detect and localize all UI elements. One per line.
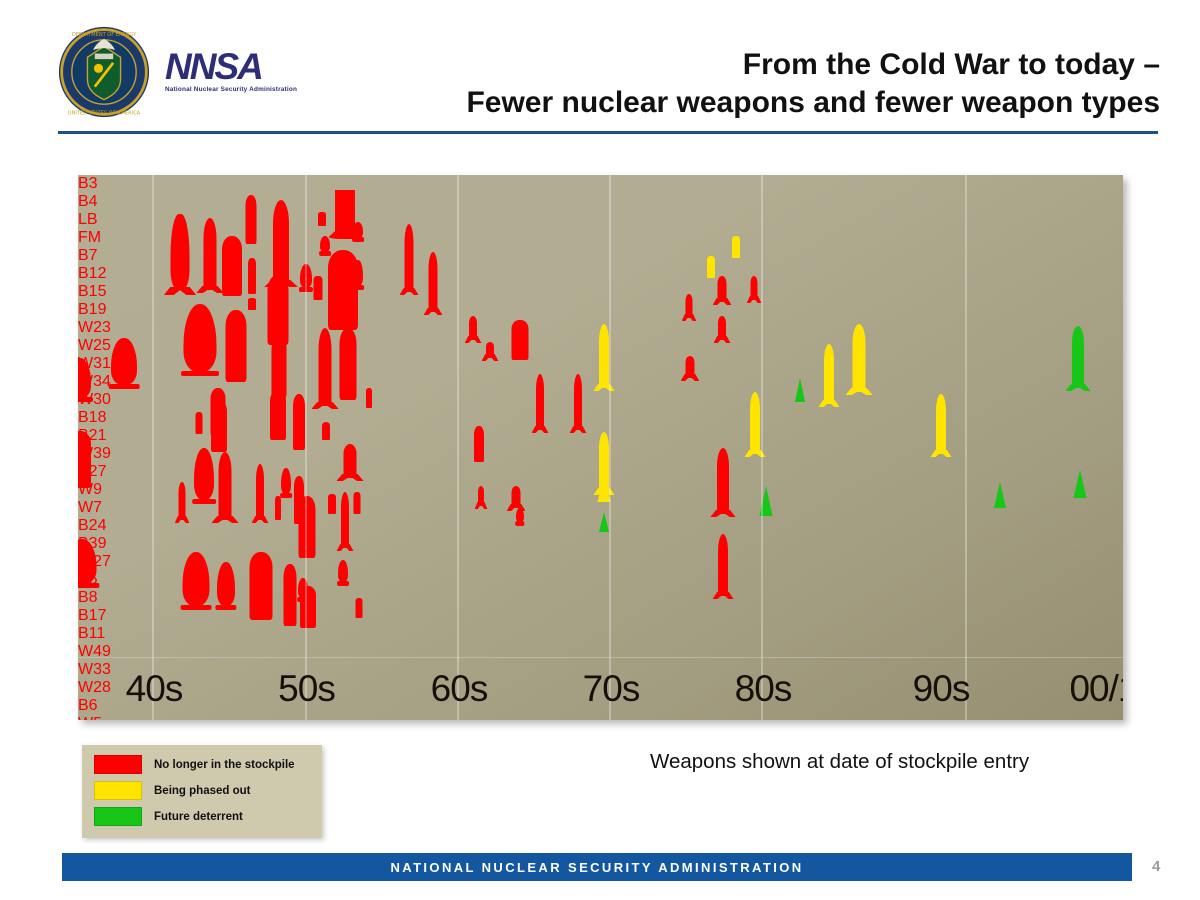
weapon-glyph-B61-2[interactable] — [536, 374, 544, 430]
weapon-shape-cone-icon — [994, 482, 1006, 508]
column-divider-00-10s — [965, 175, 967, 720]
weapon-glyph[interactable] — [1074, 470, 1087, 498]
weapon-glyph-B28Y1[interactable] — [718, 534, 728, 596]
page-number: 4 — [1152, 858, 1160, 875]
slide-header: DEPARTMENT OF ENERGY UNITED STATES OF AM… — [0, 0, 1200, 140]
weapon-glyph-W66[interactable] — [516, 508, 524, 522]
svg-text:UNITED STATES OF AMERICA: UNITED STATES OF AMERICA — [68, 110, 141, 116]
legend-item-future: Future deterrent — [94, 805, 322, 828]
weapon-glyph-W45[interactable] — [328, 494, 336, 514]
weapon-shape-bomb-icon — [194, 448, 214, 500]
weapon-shape-bomb-icon — [281, 468, 291, 494]
weapon-shape-bar-icon — [196, 412, 203, 434]
column-divider-90s — [761, 175, 763, 720]
weapon-shape-cyl-icon — [211, 400, 227, 452]
weapon-shape-finbomb-icon — [171, 214, 190, 290]
weapon-glyph-B36[interactable] — [250, 552, 273, 620]
weapon-shape-cone-icon — [795, 378, 805, 402]
weapon-glyph-W84[interactable] — [718, 276, 727, 302]
weapon-shape-missile-icon — [686, 294, 693, 318]
weapon-shape-bomb-icon — [353, 222, 363, 238]
nnsa-wordmark: NNSA — [165, 48, 310, 85]
weapon-shape-bar-icon — [248, 258, 256, 294]
nnsa-subtitle: National Nuclear Security Administration — [165, 86, 310, 93]
weapon-shape-missile-icon — [344, 444, 357, 478]
weapon-shape-cyl-icon — [78, 431, 91, 488]
legend-swatch-phasing-out — [94, 781, 142, 800]
weapon-glyph-W79-1[interactable] — [751, 276, 758, 300]
weapon-shape-cyl-icon — [299, 496, 316, 558]
legend-label-future: Future deterrent — [154, 811, 243, 823]
weapon-shape-missile-icon — [536, 374, 544, 430]
weapon-shape-missile-icon — [718, 276, 727, 302]
decade-label-80s: 80s — [687, 658, 839, 720]
weapon-glyph-W62[interactable] — [478, 486, 484, 506]
column-divider-50s — [152, 175, 154, 720]
weapon-glyph-W25[interactable] — [248, 298, 256, 310]
weapon-glyph-W48[interactable] — [366, 388, 372, 408]
weapon-glyph-B19[interactable] — [246, 195, 257, 244]
weapon-glyph-B27[interactable] — [272, 334, 287, 398]
legend-swatch-retired — [94, 755, 142, 774]
weapon-glyph-B43[interactable] — [319, 328, 332, 406]
weapon-shape-mush-icon — [335, 190, 355, 232]
weapon-shape-bomb-icon — [78, 358, 91, 398]
weapon-glyph-B57[interactable] — [341, 492, 349, 548]
weapon-shape-cyl-icon — [222, 236, 242, 296]
weapon-glyph-W47[interactable] — [314, 276, 323, 300]
decade-label-40s: 40s — [78, 658, 230, 720]
weapon-shape-cyl-icon — [512, 320, 529, 360]
weapon-glyph-B61-10[interactable] — [824, 344, 834, 404]
weapon-glyph-W72[interactable] — [474, 426, 484, 462]
title-divider — [58, 131, 1158, 134]
weapon-glyph-B3[interactable] — [78, 358, 91, 398]
weapon-shape-missile-icon — [751, 276, 758, 300]
weapon-glyph-B61-1[interactable] — [429, 252, 438, 312]
weapon-shape-cyl-icon — [284, 564, 297, 626]
weapon-shape-cyl-icon — [270, 390, 286, 440]
weapon-glyph-W58[interactable] — [354, 492, 361, 514]
weapon-glyph-W49[interactable] — [281, 468, 291, 494]
weapon-glyph-B15[interactable] — [222, 236, 242, 296]
decade-axis: 40s50s60s70s80s90s00/10s — [78, 658, 1123, 720]
title-line-1: From the Cold War to today – — [300, 46, 1160, 84]
weapon-shape-cyl-icon — [272, 334, 287, 398]
weapon-shape-bar-icon — [314, 276, 323, 300]
weapon-shape-cyl-icon — [328, 250, 358, 330]
weapon-glyph-W69[interactable] — [486, 342, 494, 358]
weapon-glyph-LB[interactable] — [78, 431, 91, 488]
weapon-shape-missile-icon — [718, 316, 726, 340]
weapon-glyph-B61-7[interactable] — [750, 392, 760, 454]
svg-text:DEPARTMENT OF ENERGY: DEPARTMENT OF ENERGY — [72, 32, 137, 38]
weapon-glyph-B18[interactable] — [184, 304, 217, 372]
weapon-glyph-W9[interactable] — [196, 412, 203, 434]
weapon-shape-bar-icon — [248, 298, 256, 310]
weapon-shape-cyl-icon — [474, 426, 484, 462]
weapon-shape-cyl-icon — [340, 328, 357, 400]
weapon-glyph-B53[interactable] — [328, 250, 358, 330]
weapon-glyph-W56[interactable] — [344, 444, 357, 478]
weapon-glyph-W70-12[interactable] — [512, 486, 521, 508]
weapon-shape-cyl-icon — [300, 586, 316, 628]
weapon-shape-missile-icon — [512, 486, 521, 508]
weapon-shape-bar-icon — [732, 236, 740, 258]
stockpile-timeline-chart: B3B4LBFMB7B12B15B19W23W25W31W34W30B18B21… — [78, 175, 1123, 720]
weapon-glyph-W54[interactable] — [318, 212, 326, 226]
weapon-shape-missile-icon — [204, 218, 217, 290]
weapon-glyph-B83-1[interactable] — [853, 324, 866, 392]
weapon-shape-missile-icon — [853, 324, 866, 392]
weapon-shape-cyl-icon — [226, 310, 247, 382]
weapon-shape-bar-icon — [356, 598, 363, 618]
weapon-glyph-W68[interactable] — [469, 316, 477, 340]
weapon-glyph-W55[interactable] — [356, 598, 363, 618]
legend-item-phasing-out: Being phased out — [94, 779, 322, 802]
weapon-shape-missile-icon — [319, 328, 332, 406]
chart-caption: Weapons shown at date of stockpile entry — [650, 750, 1130, 774]
weapon-glyph-W38[interactable] — [300, 586, 316, 628]
weapon-shape-missile-icon — [686, 356, 695, 378]
legend-item-retired: No longer in the stockpile — [94, 753, 322, 776]
weapon-glyph-B12[interactable] — [204, 218, 217, 290]
weapon-shape-bomb-icon — [217, 562, 235, 606]
weapon-glyph[interactable] — [994, 482, 1006, 508]
weapon-glyph-W33[interactable] — [275, 496, 281, 520]
weapon-glyph-B61-0[interactable] — [405, 224, 414, 292]
weapon-glyph-B6[interactable] — [183, 552, 210, 606]
weapon-glyph-W79-0[interactable] — [686, 294, 693, 318]
weapon-glyph-W85[interactable] — [718, 316, 726, 340]
weapon-shape-missile-icon — [256, 464, 264, 520]
weapon-glyph-W70-3[interactable] — [686, 356, 695, 378]
weapon-shape-missile-icon — [750, 392, 760, 454]
weapon-shape-missile-icon — [469, 316, 477, 340]
weapon-shape-bar-icon — [318, 212, 326, 226]
weapon-glyph-B83-0[interactable] — [717, 448, 729, 514]
footer-title: NATIONAL NUCLEAR SECURITY ADMINISTRATION — [62, 853, 1132, 881]
weapon-shape-cyl-icon — [250, 552, 273, 620]
weapon-glyph-W52[interactable] — [338, 560, 348, 582]
weapon-glyph-B4[interactable] — [111, 338, 137, 385]
weapon-shape-missile-icon — [599, 324, 609, 388]
weapon-glyph[interactable] — [795, 378, 805, 402]
weapon-glyph-W80-0[interactable] — [732, 236, 740, 258]
weapon-glyph-B5[interactable] — [194, 448, 214, 500]
weapon-shape-missile-icon — [717, 448, 729, 514]
weapon-shape-missile-icon — [1072, 326, 1084, 388]
weapon-shape-bomb-icon — [516, 508, 524, 522]
weapon-glyph-W23[interactable] — [248, 258, 256, 294]
weapon-shape-missile-icon — [574, 374, 582, 430]
weapon-glyph[interactable] — [1072, 326, 1084, 388]
weapon-glyph-B21[interactable] — [226, 310, 247, 382]
weapon-shape-missile-icon — [179, 482, 186, 520]
weapon-shape-cyl-icon — [246, 195, 257, 244]
weapon-shape-bomb-icon — [111, 338, 137, 385]
weapon-shape-bomb-icon — [183, 552, 210, 606]
weapon-glyph-B39[interactable] — [270, 390, 286, 440]
weapon-shape-cone-icon — [1074, 470, 1087, 498]
weapon-glyph-B28[interactable] — [284, 564, 297, 626]
weapon-glyph-B41[interactable] — [299, 496, 316, 558]
weapon-glyph-B61-5[interactable] — [574, 374, 582, 430]
weapon-glyph-B11[interactable] — [256, 464, 264, 520]
weapon-shape-missile-icon — [341, 492, 349, 548]
weapon-shape-missile-icon — [936, 394, 946, 454]
decade-label-60s: 60s — [383, 658, 535, 720]
weapon-shape-cyl-icon — [322, 422, 330, 440]
weapon-shape-missile-icon — [718, 534, 728, 596]
weapon-shape-bar-icon — [354, 492, 361, 514]
weapon-shape-cyl-icon — [293, 394, 305, 450]
nnsa-logo: NNSA National Nuclear Security Administr… — [165, 48, 310, 96]
weapon-shape-bar-icon — [366, 388, 372, 408]
legend-swatch-future — [94, 807, 142, 826]
weapon-shape-missile-icon — [429, 252, 438, 312]
title-line-2: Fewer nuclear weapons and fewer weapon t… — [300, 84, 1160, 122]
weapon-shape-cone-icon — [599, 512, 609, 532]
weapon-glyph-B54[interactable] — [353, 222, 363, 238]
weapon-glyph-FM[interactable] — [78, 539, 97, 584]
weapon-glyph-W76-1[interactable] — [599, 512, 609, 532]
weapon-shape-bomb-icon — [78, 539, 97, 584]
weapon-shape-missile-icon — [486, 342, 494, 358]
weapon-glyph-B8[interactable] — [179, 482, 186, 520]
weapon-glyph-B61-11[interactable] — [936, 394, 946, 454]
weapon-shape-bomb-icon — [184, 304, 217, 372]
column-divider-70s — [457, 175, 459, 720]
legend-label-retired: No longer in the stockpile — [154, 759, 295, 771]
weapon-shape-bomb-icon — [338, 560, 348, 582]
weapon-glyph-B24[interactable] — [211, 400, 227, 452]
weapon-shape-missile-icon — [405, 224, 414, 292]
weapon-glyph-B61-4[interactable] — [599, 324, 609, 388]
weapon-glyph-W80-1[interactable] — [707, 256, 715, 278]
weapon-glyph-B7[interactable] — [171, 214, 190, 290]
page-title: From the Cold War to today – Fewer nucle… — [300, 46, 1160, 122]
decade-label-50s: 50s — [230, 658, 383, 720]
weapon-shape-bar-icon — [707, 256, 715, 278]
column-divider-60s — [305, 175, 307, 720]
decade-label-00-10s: 00/10s — [1043, 658, 1123, 720]
weapon-shape-missile-icon — [478, 486, 484, 506]
legend-label-phasing-out: Being phased out — [154, 785, 250, 797]
column-divider-80s — [609, 175, 611, 720]
weapon-glyph-W27[interactable] — [293, 394, 305, 450]
weapon-glyph-W59[interactable] — [322, 422, 330, 440]
weapon-shape-missile-icon — [824, 344, 834, 404]
doe-seal-icon: DEPARTMENT OF ENERGY UNITED STATES OF AM… — [58, 26, 150, 118]
weapon-shape-missile-icon — [219, 452, 232, 520]
weapon-glyph-W53[interactable] — [335, 190, 355, 232]
footer-bar: NATIONAL NUCLEAR SECURITY ADMINISTRATION — [62, 853, 1132, 881]
weapon-shape-bar-icon — [275, 496, 281, 520]
weapon-glyph-B17[interactable] — [219, 452, 232, 520]
weapon-glyph-B28FI[interactable] — [340, 328, 357, 400]
weapon-glyph-W71[interactable] — [512, 320, 529, 360]
decade-label-90s: 90s — [839, 658, 1043, 720]
weapon-glyph-W5[interactable] — [217, 562, 235, 606]
legend: No longer in the stockpileBeing phased o… — [82, 745, 322, 838]
weapon-shape-bar-icon — [328, 494, 336, 514]
decade-label-70s: 70s — [535, 658, 687, 720]
